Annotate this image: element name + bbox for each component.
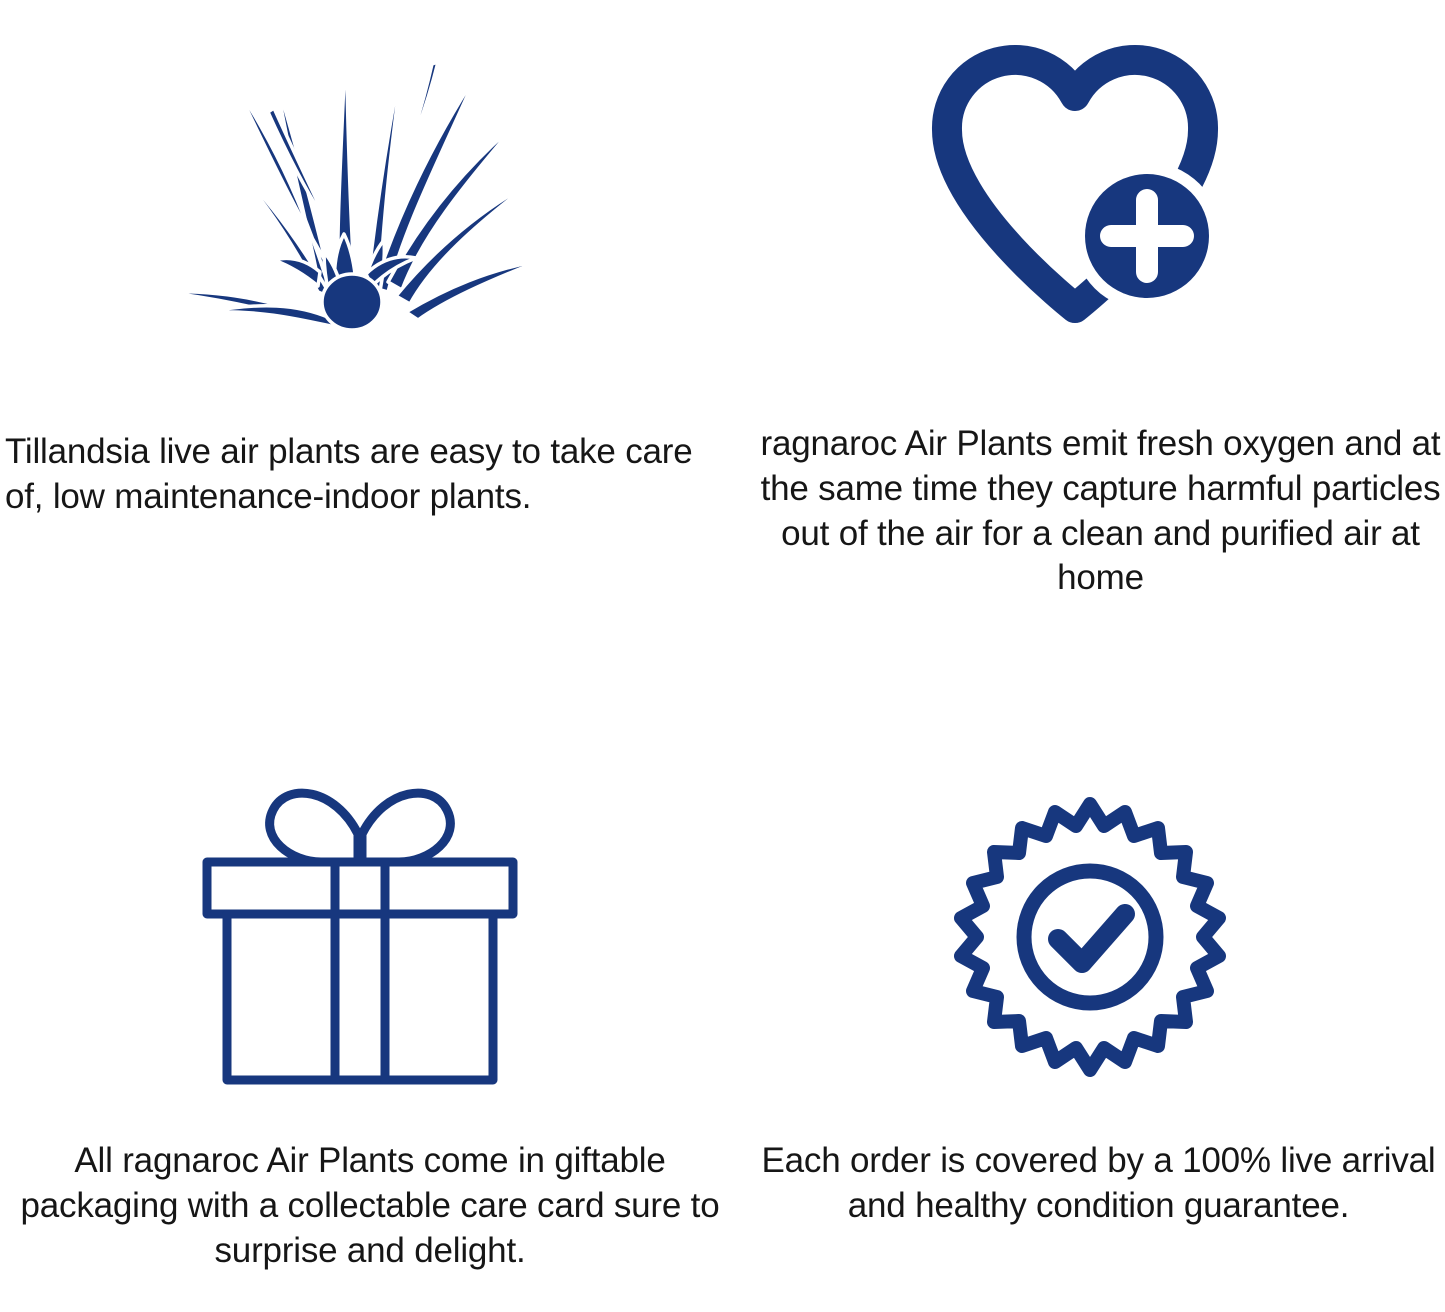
gift-box-icon [195, 766, 525, 1086]
gift-box-icon-wrap [0, 656, 740, 1086]
feature-text-quality: Each order is covered by a 100% live arr… [740, 1086, 1445, 1229]
air-plant-icon-wrap [0, 0, 740, 330]
feature-text-plant: Tillandsia live air plants are easy to t… [0, 330, 740, 520]
guarantee-badge-icon-wrap [740, 656, 1445, 1086]
feature-card-gift: All ragnaroc Air Plants come in giftable… [0, 656, 740, 1312]
feature-grid: Tillandsia live air plants are easy to t… [0, 0, 1445, 1312]
heart-plus-icon [925, 40, 1225, 330]
feature-card-plant: Tillandsia live air plants are easy to t… [0, 0, 740, 656]
heart-plus-icon-wrap [740, 0, 1445, 330]
air-plant-icon [160, 20, 545, 330]
feature-text-health: ragnaroc Air Plants emit fresh oxygen an… [740, 330, 1445, 601]
guarantee-badge-icon [945, 796, 1235, 1086]
feature-card-quality: Each order is covered by a 100% live arr… [740, 656, 1445, 1312]
feature-card-health: ragnaroc Air Plants emit fresh oxygen an… [740, 0, 1445, 656]
feature-text-gift: All ragnaroc Air Plants come in giftable… [0, 1086, 740, 1273]
